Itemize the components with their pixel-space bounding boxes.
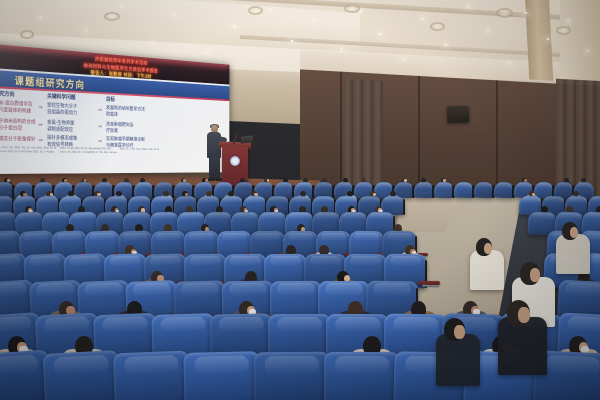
slide-row-1-arrow: ⇒ (38, 104, 42, 111)
slide-row-3-arrow-2: ⇒ (98, 138, 102, 145)
slide-column-header-direction: 研究方向 (0, 89, 15, 98)
audience-member-face (570, 227, 578, 238)
downlight-icon (118, 4, 123, 7)
downlight-icon (402, 58, 405, 60)
downlight-icon (268, 8, 273, 11)
downlight-icon (232, 25, 237, 28)
ceiling-beam-right (525, 0, 554, 81)
university-crest-icon (230, 156, 240, 166)
downlight-icon (466, 5, 471, 8)
slide-row-2-arrow: ⇒ (38, 121, 42, 128)
wall-loudspeaker (447, 106, 470, 124)
ceiling-fixture-ring-icon (430, 22, 445, 31)
projection-screen: 庆祝建校周年系列学术活动 纳米材料与生物医学交叉前沿学术报告 报告人：张教授 时… (0, 44, 229, 174)
audience-member-face (484, 243, 492, 254)
slide-column-header-goal: 目标 (106, 95, 115, 103)
slide-row-3-arrow: ⇒ (38, 137, 42, 144)
ceiling-fixture-ring-icon (556, 26, 571, 35)
downlight-icon (586, 50, 589, 52)
slide-reference-list: J. Am. Chem. Soc. 2021, 143, 15 • Adv. M… (0, 146, 223, 155)
laptop-icon (241, 135, 253, 143)
audience-member-seated (436, 334, 480, 386)
speaker-shoe-right (215, 178, 222, 181)
speaker-legs (209, 157, 220, 180)
slide-row-2-question-line-2: 调制适配效应 (47, 127, 73, 134)
downlight-icon (252, 55, 255, 57)
ceiling-fixture-ring-icon (20, 30, 34, 39)
audience-member-seated (470, 250, 504, 290)
seat (324, 352, 400, 400)
ceiling-fixture-ring-icon (248, 6, 263, 15)
ceiling-fixture-ring-icon (496, 8, 513, 18)
seat-back-gap (403, 199, 405, 215)
slide-row-2-goal-line-2: 疗效果 (106, 128, 118, 134)
slide-row-1-arrow-2: ⇒ (98, 107, 102, 114)
downlight-icon (508, 62, 511, 64)
presentation-slide: 课题组研究方向 研究方向 关键科学问题 目标 纳米-蛋白质组学及 多尺度载体的构… (0, 68, 229, 174)
slide-row-1-question-line-2: 自组装的驱动力 (47, 109, 77, 116)
slide-row-3-question-line-1: 探针多模态成像 (47, 135, 77, 142)
slide-row-3-direction-line-1: 多模态分子影像探针 (0, 136, 36, 143)
seat (254, 352, 331, 400)
audience-member-face (518, 307, 530, 323)
slide-row-2-arrow-2: ⇒ (98, 123, 102, 130)
slide-row-1-goal-line-2: 和载体 (106, 112, 118, 118)
downlight-icon (38, 16, 43, 19)
auditorium-photo: 庆祝建校周年系列学术活动 纳米材料与生物医学交叉前沿学术报告 报告人：张教授 时… (0, 0, 600, 400)
slide-row-1-direction-line-2: 多尺度载体的构建 (0, 107, 31, 115)
audience-member-seated (498, 317, 547, 375)
downlight-icon (420, 17, 425, 20)
audience-member-face (530, 268, 540, 282)
slide-column-header-question: 关键科学问题 (47, 92, 75, 101)
seat (42, 350, 121, 400)
audience-member-face (454, 325, 464, 339)
downlight-icon (340, 48, 343, 50)
seat (183, 351, 260, 400)
audience-member-seated (556, 234, 590, 274)
slide-row-2-direction-line-2: 与分子蛋白冠 (0, 125, 22, 132)
speaker-shoe-left (208, 178, 215, 181)
seat (113, 351, 191, 400)
